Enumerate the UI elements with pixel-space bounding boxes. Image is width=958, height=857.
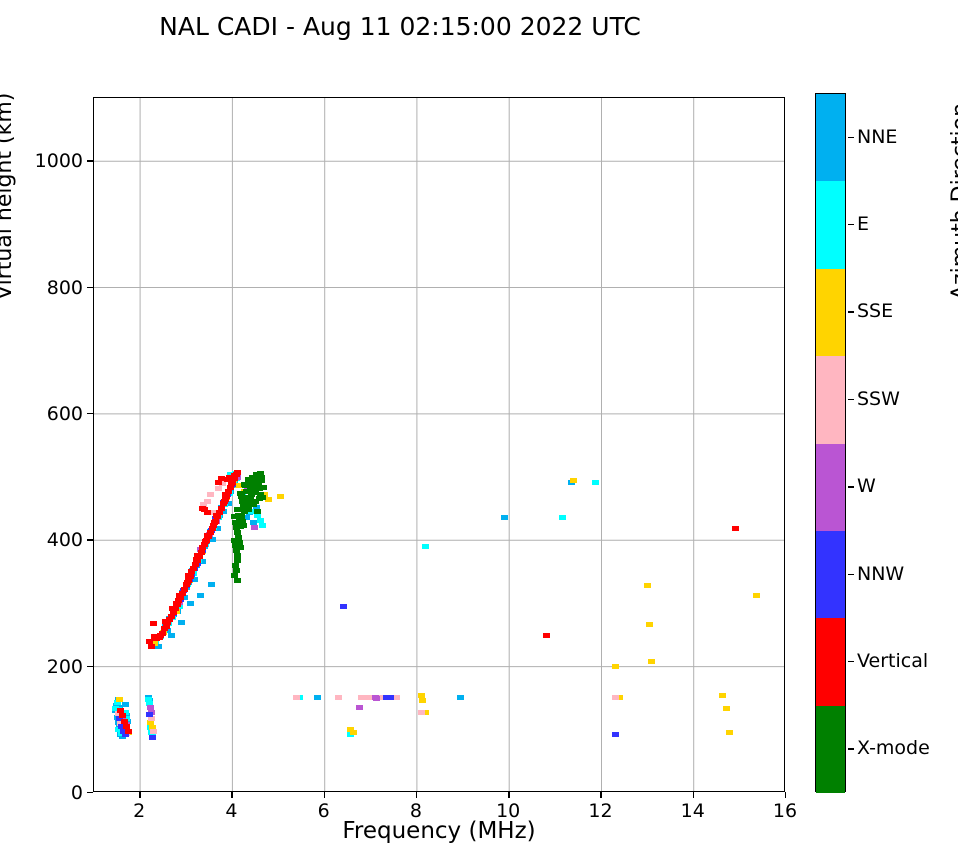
echo-point bbox=[187, 601, 194, 606]
echo-point bbox=[753, 593, 760, 598]
echo-point bbox=[204, 533, 211, 538]
echo-point bbox=[218, 506, 225, 511]
echo-point bbox=[237, 491, 244, 496]
echo-point bbox=[250, 502, 257, 507]
colorbar-tick bbox=[848, 224, 854, 225]
echo-point bbox=[168, 633, 175, 638]
colorbar-segment-nne[interactable] bbox=[816, 94, 845, 181]
echo-point bbox=[570, 478, 577, 483]
echo-point bbox=[150, 729, 157, 734]
echo-point bbox=[178, 620, 185, 625]
echo-point bbox=[644, 583, 651, 588]
echo-point bbox=[157, 633, 164, 638]
echo-point bbox=[612, 664, 619, 669]
echo-point bbox=[150, 621, 157, 626]
colorbar-tick bbox=[848, 748, 854, 749]
colorbar-segment-ssw[interactable] bbox=[816, 356, 845, 443]
echo-point bbox=[254, 509, 261, 514]
echo-point bbox=[247, 496, 254, 501]
echo-point bbox=[340, 604, 347, 609]
x-tick-12: 12 bbox=[570, 800, 630, 822]
echo-point bbox=[350, 730, 357, 735]
colorbar-segment-nnw[interactable] bbox=[816, 531, 845, 618]
echo-point bbox=[245, 507, 252, 512]
echo-point bbox=[116, 697, 123, 702]
echo-point bbox=[169, 606, 176, 611]
colorbar-tick bbox=[848, 311, 854, 312]
plot-area[interactable] bbox=[93, 97, 785, 792]
echo-point bbox=[207, 492, 214, 497]
echo-point bbox=[393, 695, 400, 700]
y-tick-200: 200 bbox=[13, 656, 83, 678]
colorbar-label-nnw: NNW bbox=[857, 563, 904, 585]
page-title: NAL CADI - Aug 11 02:15:00 2022 UTC bbox=[0, 12, 800, 41]
colorbar[interactable] bbox=[815, 93, 846, 792]
y-axis-label: Virtual height (km) bbox=[0, 93, 17, 300]
x-tick-mark bbox=[785, 792, 786, 798]
echo-point bbox=[646, 622, 653, 627]
colorbar-tick bbox=[848, 661, 854, 662]
echo-point bbox=[726, 730, 733, 735]
echo-point bbox=[592, 480, 599, 485]
echo-point bbox=[559, 515, 566, 520]
echo-point bbox=[149, 735, 156, 740]
y-tick-0: 0 bbox=[13, 782, 83, 804]
colorbar-segment-sse[interactable] bbox=[816, 269, 845, 356]
colorbar-tick bbox=[848, 486, 854, 487]
echo-point bbox=[314, 695, 321, 700]
colorbar-label-vertical: Vertical bbox=[857, 650, 928, 672]
echo-point bbox=[215, 486, 222, 491]
echo-point bbox=[181, 587, 188, 592]
echo-point bbox=[358, 695, 365, 700]
y-tick-mark bbox=[87, 792, 93, 793]
echo-point bbox=[259, 523, 266, 528]
x-tick-10: 10 bbox=[478, 800, 538, 822]
echo-point bbox=[202, 539, 209, 544]
echo-point bbox=[543, 633, 550, 638]
colorbar-label-w: W bbox=[857, 475, 876, 497]
echo-point bbox=[226, 475, 233, 480]
y-tick-400: 400 bbox=[13, 529, 83, 551]
echo-point bbox=[211, 520, 218, 525]
colorbar-segment-w[interactable] bbox=[816, 444, 845, 531]
echo-point bbox=[234, 578, 241, 583]
echo-point bbox=[146, 712, 153, 717]
echo-point bbox=[258, 478, 265, 483]
echo-point bbox=[335, 695, 342, 700]
x-tick-mark bbox=[693, 792, 694, 798]
echo-point bbox=[245, 477, 252, 482]
echo-point bbox=[719, 693, 726, 698]
echo-point bbox=[162, 619, 169, 624]
echo-point bbox=[125, 729, 132, 734]
echo-point bbox=[612, 732, 619, 737]
echo-point bbox=[122, 702, 129, 707]
echo-point bbox=[204, 499, 211, 504]
x-tick-4: 4 bbox=[201, 800, 261, 822]
echo-point bbox=[612, 695, 619, 700]
colorbar-segment-x-mode[interactable] bbox=[816, 706, 845, 793]
echo-point bbox=[277, 494, 284, 499]
echo-point bbox=[260, 485, 267, 490]
echo-point bbox=[648, 659, 655, 664]
x-tick-mark bbox=[508, 792, 509, 798]
colorbar-axis-label: Azimuth Direction bbox=[948, 103, 958, 300]
echo-point bbox=[259, 495, 266, 500]
x-tick-6: 6 bbox=[294, 800, 354, 822]
echo-point bbox=[240, 523, 247, 528]
echo-point bbox=[213, 513, 220, 518]
x-tick-mark bbox=[324, 792, 325, 798]
data-points-layer bbox=[94, 98, 784, 791]
echo-point bbox=[184, 580, 191, 585]
x-tick-16: 16 bbox=[755, 800, 815, 822]
colorbar-segment-vertical[interactable] bbox=[816, 618, 845, 705]
y-tick-800: 800 bbox=[13, 277, 83, 299]
echo-point bbox=[251, 525, 258, 530]
echo-point bbox=[221, 499, 228, 504]
y-tick-600: 600 bbox=[13, 403, 83, 425]
echo-point bbox=[418, 710, 425, 715]
x-tick-mark bbox=[231, 792, 232, 798]
echo-point bbox=[204, 510, 211, 515]
echo-point bbox=[176, 593, 183, 598]
echo-point bbox=[293, 695, 300, 700]
x-tick-mark bbox=[416, 792, 417, 798]
echo-point bbox=[723, 706, 730, 711]
x-tick-14: 14 bbox=[663, 800, 723, 822]
echo-point bbox=[387, 695, 394, 700]
colorbar-label-ssw: SSW bbox=[857, 388, 900, 410]
echo-point bbox=[148, 644, 155, 649]
echo-point bbox=[237, 545, 244, 550]
echo-point bbox=[457, 695, 464, 700]
x-tick-mark bbox=[600, 792, 601, 798]
echo-point bbox=[197, 593, 204, 598]
echo-point bbox=[356, 705, 363, 710]
x-tick-mark bbox=[139, 792, 140, 798]
colorbar-tick bbox=[848, 137, 854, 138]
x-tick-8: 8 bbox=[386, 800, 446, 822]
ionogram-figure: NAL CADI - Aug 11 02:15:00 2022 UTC Virt… bbox=[0, 0, 958, 857]
y-tick-1000: 1000 bbox=[13, 150, 83, 172]
colorbar-segment-e[interactable] bbox=[816, 181, 845, 268]
echo-point bbox=[173, 601, 180, 606]
x-tick-2: 2 bbox=[109, 800, 169, 822]
colorbar-tick bbox=[848, 399, 854, 400]
echo-point bbox=[234, 558, 241, 563]
colorbar-label-x-mode: X-mode bbox=[857, 737, 930, 759]
echo-point bbox=[501, 515, 508, 520]
echo-point bbox=[732, 526, 739, 531]
echo-point bbox=[222, 492, 229, 497]
echo-point bbox=[208, 582, 215, 587]
echo-point bbox=[419, 698, 426, 703]
colorbar-label-nne: NNE bbox=[857, 126, 897, 148]
echo-point bbox=[193, 557, 200, 562]
echo-point bbox=[185, 573, 192, 578]
echo-point bbox=[373, 696, 380, 701]
colorbar-label-e: E bbox=[857, 213, 869, 235]
colorbar-tick bbox=[848, 574, 854, 575]
echo-point bbox=[241, 482, 248, 487]
echo-point bbox=[422, 544, 429, 549]
colorbar-label-sse: SSE bbox=[857, 300, 893, 322]
